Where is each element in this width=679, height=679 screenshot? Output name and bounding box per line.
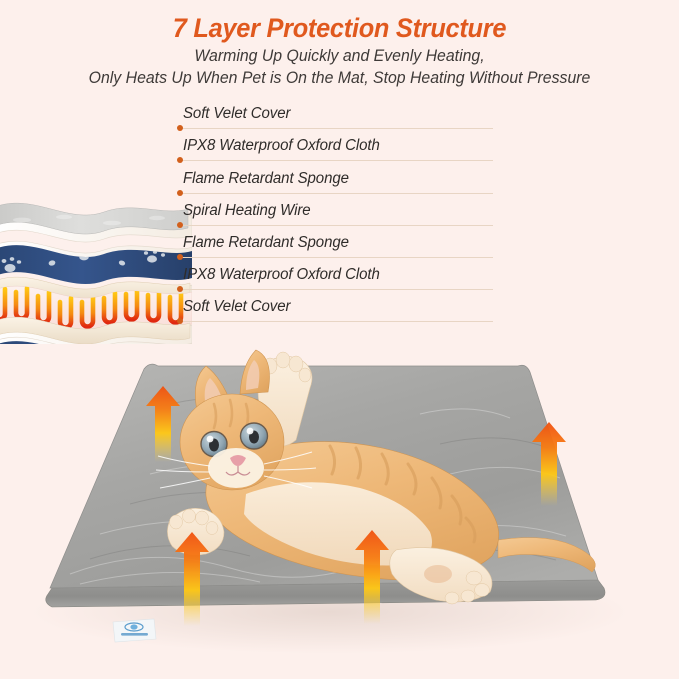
layer-label-3: Flame Retardant Sponge (183, 170, 349, 188)
header: 7 Layer Protection Structure Warming Up … (0, 0, 679, 89)
leader-dot-4 (177, 222, 183, 228)
leader-dot-1 (177, 125, 183, 131)
brand-tag (113, 619, 156, 642)
layer-label-6: IPX8 Waterproof Oxford Cloth (183, 266, 380, 284)
leader-line-2 (180, 160, 493, 161)
leader-line-6 (180, 289, 493, 290)
layer-label-2: IPX8 Waterproof Oxford Cloth (183, 137, 380, 155)
leader-dot-6 (177, 286, 183, 292)
leader-dot-5 (177, 254, 183, 260)
leader-line-7 (180, 321, 493, 322)
layer-label-7: Soft Velet Cover (183, 298, 290, 316)
product-infographic: 7 Layer Protection Structure Warming Up … (0, 0, 679, 679)
page-title: 7 Layer Protection Structure (20, 14, 658, 42)
product-photo (0, 344, 679, 679)
subtitle-line-2: Only Heats Up When Pet is On the Mat, St… (14, 68, 666, 89)
layer-label-5: Flame Retardant Sponge (183, 234, 349, 252)
layer-structure-diagram: Soft Velet Cover IPX8 Waterproof Oxford … (0, 96, 679, 344)
leader-line-1 (180, 128, 493, 129)
layer-labels: Soft Velet Cover IPX8 Waterproof Oxford … (0, 96, 679, 344)
leader-dot-7 (177, 318, 183, 324)
leader-line-5 (180, 257, 493, 258)
leader-line-4 (180, 225, 493, 226)
leader-line-3 (180, 193, 493, 194)
leader-dot-3 (177, 190, 183, 196)
leader-dot-2 (177, 157, 183, 163)
subtitle-line-1: Warming Up Quickly and Evenly Heating, (14, 46, 666, 67)
kitten-on-heated-mat-illustration (0, 344, 679, 679)
layer-label-4: Spiral Heating Wire (183, 202, 311, 220)
layer-label-1: Soft Velet Cover (183, 105, 290, 123)
